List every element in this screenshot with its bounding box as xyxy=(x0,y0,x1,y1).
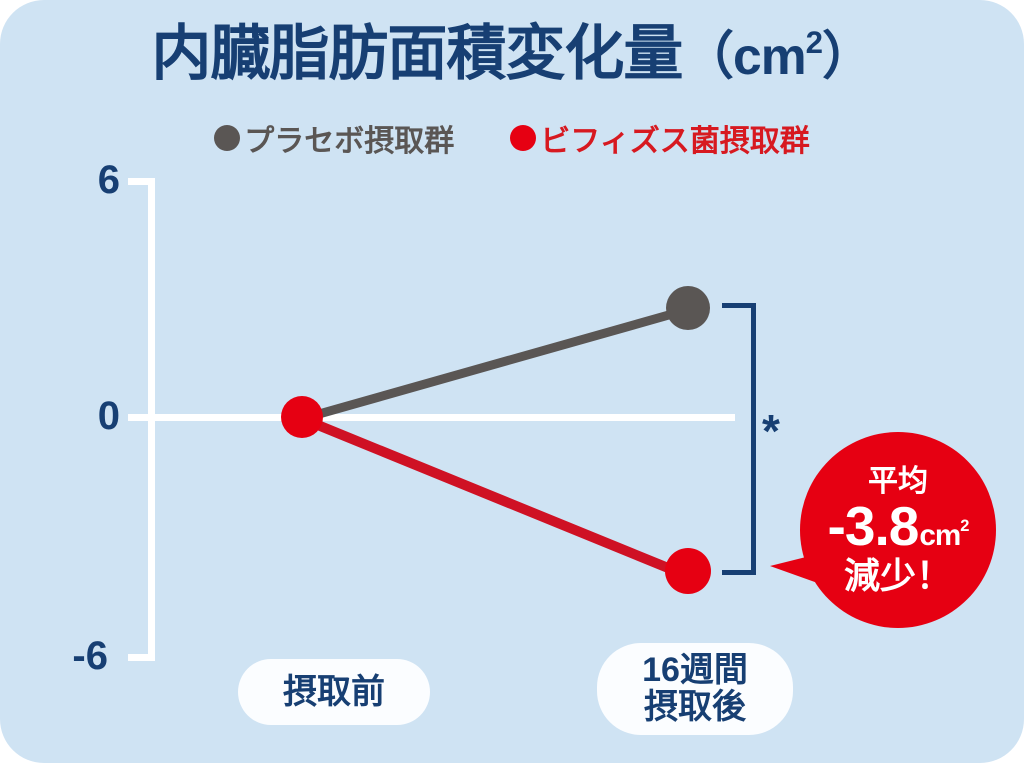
zero-baseline xyxy=(155,414,735,421)
callout-value: -3.8cm2 xyxy=(828,499,969,554)
series-line-placebo xyxy=(302,307,684,423)
callout-suffix-label: 減少！ xyxy=(844,558,952,594)
significance-bracket xyxy=(722,303,756,575)
data-point-baseline xyxy=(281,396,323,438)
x-axis-label-after-line1: 16週間 xyxy=(642,652,748,689)
significance-asterisk: * xyxy=(762,408,780,454)
callout-average-label: 平均 xyxy=(868,467,928,497)
y-axis-label-0: 0 xyxy=(40,394,120,439)
plot-area: 6 0 -6 * xyxy=(0,0,1024,763)
callout-value-unit: cm xyxy=(919,521,960,551)
y-axis-label-6: 6 xyxy=(40,158,120,203)
callout-bubble: 平均 -3.8cm2 減少！ xyxy=(800,432,996,628)
y-axis-tick-bottom xyxy=(128,654,155,661)
x-axis-label-before-line1: 摂取前 xyxy=(283,674,385,711)
data-point-placebo-after xyxy=(666,286,710,330)
callout-value-number: -3.8 xyxy=(828,499,919,554)
y-axis-tick-zero xyxy=(128,414,155,421)
series-line-bifidus xyxy=(301,414,683,578)
chart-panel: 内臓脂肪面積変化量（cm2） プラセボ摂取群 ビフィズス菌摂取群 6 0 -6 … xyxy=(0,0,1024,763)
data-point-bifidus-after xyxy=(665,548,711,594)
x-axis-label-after: 16週間 摂取後 xyxy=(597,643,793,735)
y-axis-label-neg6: -6 xyxy=(28,634,108,679)
x-axis-label-before: 摂取前 xyxy=(238,659,430,725)
y-axis-tick-top xyxy=(128,178,155,185)
x-axis-label-after-line2: 摂取後 xyxy=(644,689,746,726)
